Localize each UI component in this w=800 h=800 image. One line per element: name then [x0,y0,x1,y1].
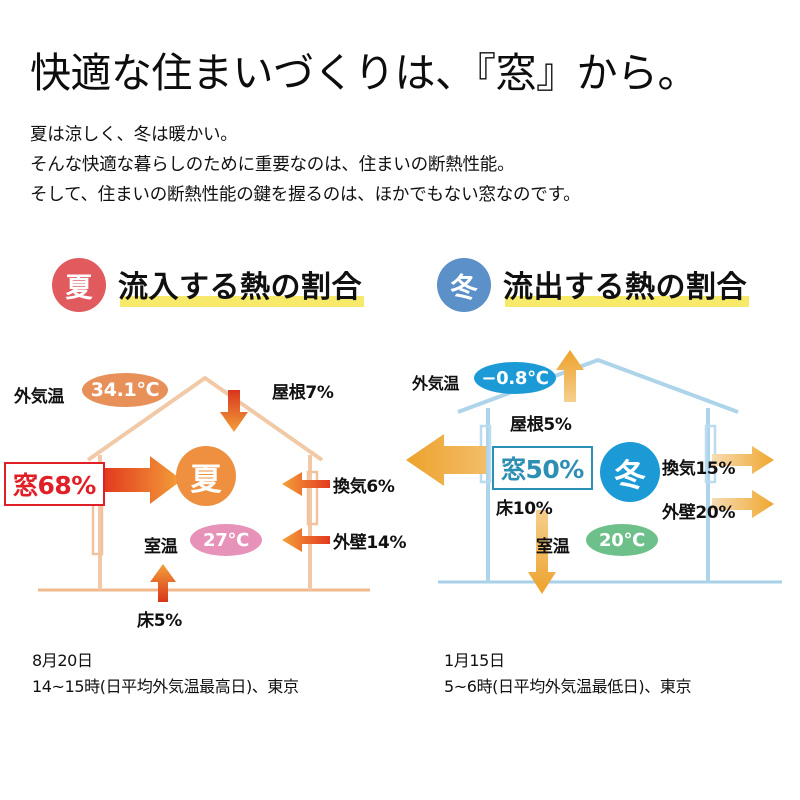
indoor-temp-value-summer: 27℃ [190,524,262,556]
outdoor-temp-label-winter: 外気温 [412,370,459,394]
wall-arrow-summer [282,528,330,552]
indoor-temp-label-summer: 室温 [144,532,177,557]
window-label-winter: 窓50% [492,446,593,490]
wall-label-summer: 外壁14% [333,528,406,553]
outdoor-temp-label-summer: 外気温 [14,382,64,407]
caption-summer: 8月20日 14~15時(日平均外気温最高日)、東京 [32,648,299,700]
section-title-summer: 流入する熱の割合 [118,270,362,305]
caption-summer-detail: 14~15時(日平均外気温最高日)、東京 [32,674,299,700]
summer-house-diagram: 外気温 34.1℃ 屋根7% 窓68% 換気6% 外壁14% 夏 室温 27℃ … [0,350,410,640]
floor-arrow-summer [150,564,176,602]
ventilation-arrow-summer [282,472,330,496]
lead-line-1: 夏は涼しく、冬は暖かい。 [30,120,770,150]
ventilation-label-summer: 換気6% [333,472,395,497]
outdoor-temp-value-winter: −0.8℃ [474,362,556,394]
season-mark-winter: 冬 [600,442,660,502]
caption-winter-detail: 5~6時(日平均外気温最低日)、東京 [444,674,691,700]
page-title: 快適な住まいづくりは、『窓』から。 [30,49,780,97]
section-title-wrap-summer: 流入する熱の割合 [118,262,362,308]
lead-paragraph: 夏は涼しく、冬は暖かい。 そんな快適な暮らしのために重要なのは、住まいの断熱性能… [30,120,770,210]
indoor-temp-value-winter: 20℃ [586,524,658,556]
winter-house-diagram: 外気温 −0.8℃ 屋根5% 窓50% 冬 換気15% 外壁20% 床10% 室… [400,350,800,640]
winter-house-svg [400,350,800,640]
outdoor-temp-value-summer: 34.1℃ [82,373,168,407]
section-title-wrap-winter: 流出する熱の割合 [503,262,747,308]
caption-winter-date: 1月15日 [444,648,691,674]
infographic-page: 快適な住まいづくりは、『窓』から。 夏は涼しく、冬は暖かい。 そんな快適な暮らし… [0,0,800,800]
roof-arrow-summer [220,390,248,432]
floor-label-summer: 床5% [137,606,182,631]
season-badge-summer: 夏 [52,258,106,312]
ventilation-label-winter: 換気15% [662,454,735,479]
section-title-winter: 流出する熱の割合 [503,270,747,305]
caption-winter: 1月15日 5~6時(日平均外気温最低日)、東京 [444,648,691,700]
season-mark-summer: 夏 [176,446,236,506]
window-label-summer: 窓68% [4,462,105,506]
floor-label-winter: 床10% [496,494,553,519]
section-header-winter: 冬 流出する熱の割合 [437,258,747,312]
window-arrow-summer [104,456,182,504]
lead-line-3: そして、住まいの断熱性能の鍵を握るのは、ほかでもない窓なのです。 [30,180,770,210]
roof-label-summer: 屋根7% [272,378,334,403]
caption-summer-date: 8月20日 [32,648,299,674]
season-badge-winter: 冬 [437,258,491,312]
window-arrow-winter [406,434,486,486]
wall-label-winter: 外壁20% [662,498,735,523]
section-header-summer: 夏 流入する熱の割合 [52,258,362,312]
indoor-temp-label-winter: 室温 [536,532,569,557]
lead-line-2: そんな快適な暮らしのために重要なのは、住まいの断熱性能。 [30,150,770,180]
roof-label-winter: 屋根5% [510,410,572,435]
